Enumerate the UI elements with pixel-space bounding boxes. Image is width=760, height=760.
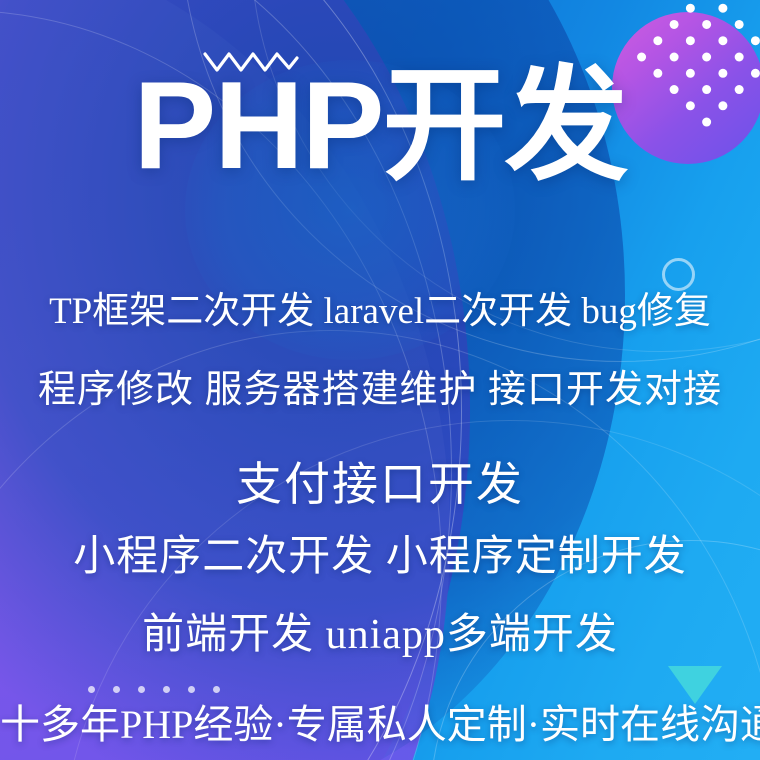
service-line-miniprogram: 小程序二次开发 小程序定制开发 bbox=[0, 522, 760, 583]
service-line-frameworks: TP框架二次开发 laravel二次开发 bug修复 bbox=[0, 280, 760, 334]
service-line-maintenance: 程序修改 服务器搭建维护 接口开发对接 bbox=[0, 358, 760, 413]
page-title: PHP开发 bbox=[0, 64, 760, 188]
footer-tagline: 十多年PHP经验·专属私人定制·实时在线沟通 bbox=[0, 692, 760, 750]
service-line-frontend: 前端开发 uniapp多端开发 bbox=[0, 600, 760, 661]
php-promo-banner: PHP开发 TP框架二次开发 laravel二次开发 bug修复 程序修改 服务… bbox=[0, 0, 760, 760]
service-line-payment: 支付接口开发 bbox=[0, 448, 760, 514]
banner-content: PHP开发 TP框架二次开发 laravel二次开发 bug修复 程序修改 服务… bbox=[0, 0, 760, 760]
